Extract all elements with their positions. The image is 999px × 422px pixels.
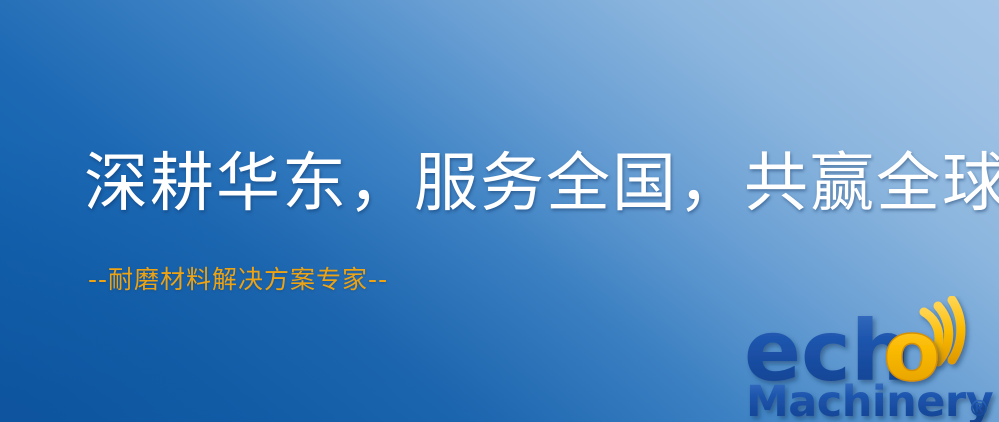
- logo-subword: Machinery: [746, 377, 994, 422]
- echo-machinery-logo[interactable]: ech o Machinery ®: [742, 296, 999, 422]
- banner-subtitle: --耐磨材料解决方案专家--: [88, 267, 388, 292]
- promo-banner: 深耕华东，服务全国，共赢全球 --耐磨材料解决方案专家--: [0, 0, 999, 422]
- banner-headline: 深耕华东，服务全国，共赢全球: [84, 152, 999, 216]
- logo-registered-mark: ®: [968, 397, 990, 422]
